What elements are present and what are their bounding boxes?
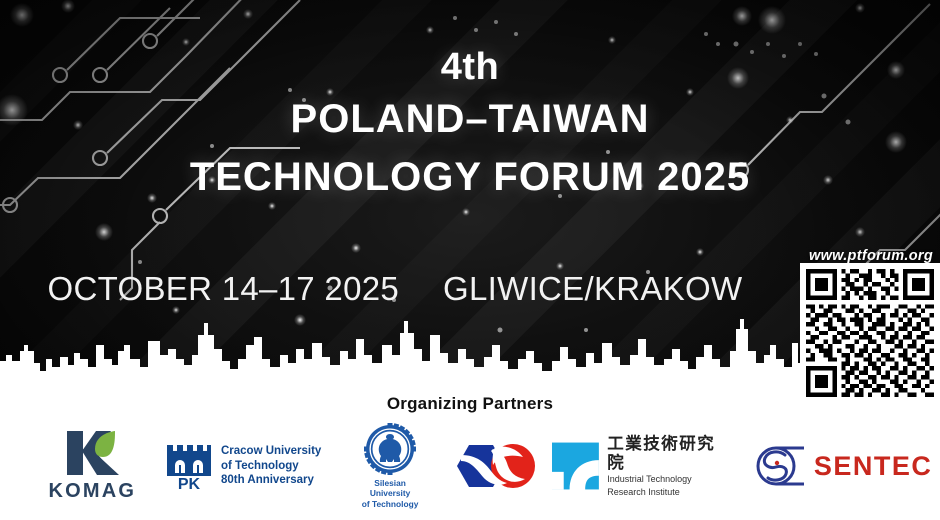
event-location: GLIWICE/KRAKOW [443, 270, 742, 308]
event-dates: OCTOBER 14–17 2025 [48, 270, 400, 308]
conference-poster: 4th POLAND–TAIWAN TECHNOLOGY FORUM 2025 … [0, 0, 940, 520]
poster-headline: 4th POLAND–TAIWAN TECHNOLOGY FORUM 2025 [0, 44, 940, 206]
qr-code[interactable] [800, 263, 940, 403]
partner-logos: KOMAG PK Cracow University of T [0, 420, 940, 512]
cracow-line-2: of Technology [221, 459, 321, 474]
komag-mark-icon [63, 429, 121, 477]
partner-logo-moea-taiwan[interactable] [449, 439, 548, 493]
itri-english-line-1: Industrial Technology [607, 474, 730, 485]
silesian-gear-emblem-icon [364, 423, 416, 475]
website-url[interactable]: www.ptforum.org [809, 248, 933, 264]
silesian-line-2: University [362, 488, 419, 498]
itri-mark-icon [552, 442, 599, 490]
partner-logo-cracow-university[interactable]: PK Cracow University of Technology 80th … [159, 442, 329, 490]
cracow-line-3: 80th Anniversary [221, 473, 321, 488]
itri-english-line-2: Research Institute [607, 487, 730, 498]
city-skyline-silhouette [0, 315, 940, 385]
cracow-pk-emblem-icon: PK [166, 442, 212, 490]
itri-text: 工業技術研究院 Industrial Technology Research I… [607, 434, 730, 498]
headline-title-line1: POLAND–TAIWAN [0, 90, 940, 148]
itri-chinese-name: 工業技術研究院 [607, 434, 730, 472]
partner-logo-komag[interactable]: KOMAG [34, 429, 151, 503]
partner-logo-silesian-university[interactable]: Silesian University of Technology [339, 423, 442, 509]
silesian-line-1: Silesian [362, 478, 419, 488]
headline-title-line2: TECHNOLOGY FORUM 2025 [0, 148, 940, 206]
sentec-mark-icon [752, 444, 806, 488]
sentec-wordmark: SENTEC [814, 451, 933, 482]
qr-code-image [806, 269, 934, 397]
partner-logo-sentec[interactable]: SENTEC [744, 444, 940, 488]
silesian-line-3: of Technology [362, 499, 419, 509]
svg-text:PK: PK [178, 476, 201, 490]
moea-mark-icon [455, 439, 543, 493]
headline-edition: 4th [0, 44, 940, 90]
cracow-line-1: Cracow University [221, 444, 321, 459]
komag-wordmark: KOMAG [48, 480, 136, 503]
partner-logo-itri[interactable]: 工業技術研究院 Industrial Technology Research I… [552, 434, 730, 498]
event-details: OCTOBER 14–17 2025 GLIWICE/KRAKOW [0, 270, 790, 308]
organizing-partners-heading: Organizing Partners [0, 394, 940, 414]
cracow-university-text: Cracow University of Technology 80th Ann… [221, 444, 321, 488]
silesian-university-text: Silesian University of Technology [362, 478, 419, 509]
